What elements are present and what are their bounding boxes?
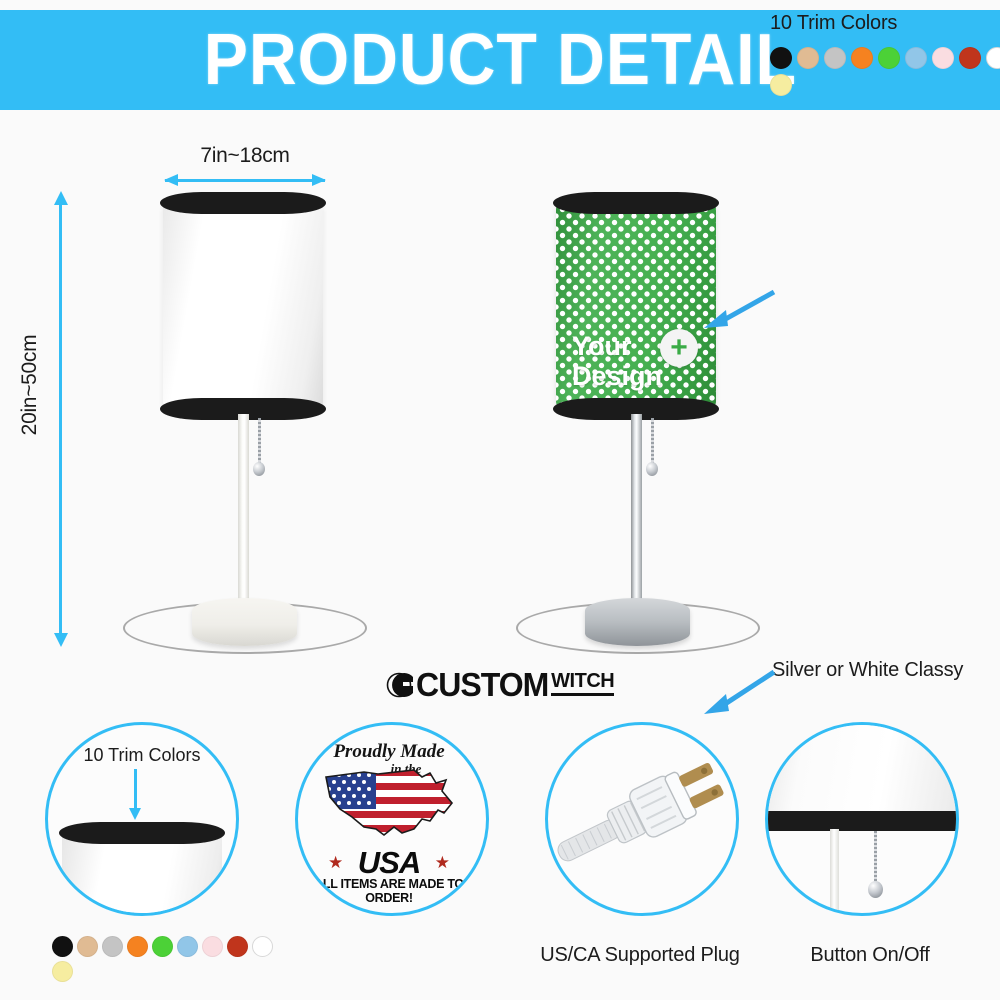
trim-swatch-green[interactable] xyxy=(878,47,900,69)
trim-swatch-gray[interactable] xyxy=(102,936,123,957)
shade-top-trim xyxy=(160,192,326,214)
feature-pull-chain xyxy=(874,831,877,883)
feature-shade-trim xyxy=(59,822,225,844)
width-dimension-arrow xyxy=(165,179,325,182)
feature-button-on-off xyxy=(765,722,959,916)
design-line-2: Design xyxy=(572,361,662,391)
usa-badge-country: USA xyxy=(298,845,480,881)
feature-lamp-pole xyxy=(830,829,839,916)
trim-swatch-red[interactable] xyxy=(959,47,981,69)
feature-pull-chain-ball[interactable] xyxy=(868,881,883,898)
trim-pointer-arrow-icon xyxy=(700,288,778,330)
trim-swatch-pink[interactable] xyxy=(932,47,954,69)
lamp-pole xyxy=(631,414,642,614)
logo-primary-text: CUSTOM xyxy=(416,666,548,704)
height-dimension-label: 20in~50cm xyxy=(18,295,42,475)
logo-secondary-text: WITCH xyxy=(551,671,614,691)
page-title: PRODUCT DETAIL xyxy=(203,24,796,96)
trim-swatch-black[interactable] xyxy=(770,47,792,69)
logo-c-mark-icon xyxy=(386,670,416,700)
trim-swatch-light-blue[interactable] xyxy=(177,936,198,957)
usa-badge: Proudly Made in the xyxy=(298,725,480,907)
pull-chain-ball xyxy=(646,462,658,476)
trim-swatch-light-blue[interactable] xyxy=(905,47,927,69)
pull-chain-ball xyxy=(253,462,265,476)
brand-logo: CUSTOM WITCH xyxy=(0,662,1000,708)
usa-map-flag-icon xyxy=(318,763,460,847)
usa-star-right-icon: ★ xyxy=(435,853,450,873)
trim-color-swatch-row xyxy=(770,47,1000,96)
usa-badge-line1: Proudly Made xyxy=(333,741,444,762)
logo-underline xyxy=(551,693,614,696)
lamp-shade-green: Your Design + xyxy=(556,203,716,408)
trim-swatch-white[interactable] xyxy=(986,47,1000,69)
pull-chain xyxy=(651,418,654,464)
design-line-1: Your xyxy=(572,331,632,361)
trim-swatch-yellow[interactable] xyxy=(770,74,792,96)
trim-swatch-tan[interactable] xyxy=(797,47,819,69)
feature-shade-body xyxy=(62,833,222,916)
feature-shade-trim xyxy=(765,811,959,831)
trim-swatch-orange[interactable] xyxy=(851,47,873,69)
trim-swatch-pink[interactable] xyxy=(202,936,223,957)
height-dimension-arrow xyxy=(59,204,62,634)
logo-secondary-group: WITCH xyxy=(551,671,614,696)
feature-button-caption: Button On/Off xyxy=(760,944,980,967)
pull-chain xyxy=(258,418,261,464)
trim-colors-title: 10 Trim Colors xyxy=(770,12,1000,35)
usa-badge-subtext: ALL ITEMS ARE MADE TO ORDER! xyxy=(298,877,480,905)
trim-colors-panel: 10 Trim Colors xyxy=(770,12,1000,96)
lamp-shade-white xyxy=(163,203,323,408)
width-dimension-label: 7in~18cm xyxy=(160,144,330,168)
feature-made-in-usa: Proudly Made in the xyxy=(295,722,489,916)
feature-power-plug xyxy=(545,722,739,916)
trim-swatch-yellow[interactable] xyxy=(52,961,73,982)
lamp-base-silver xyxy=(585,598,690,646)
lamp-base-white xyxy=(192,598,297,646)
feature-trim-arrow-icon xyxy=(134,769,137,809)
shade-top-trim xyxy=(553,192,719,214)
trim-swatch-white[interactable] xyxy=(252,936,273,957)
plus-icon: + xyxy=(660,329,698,367)
trim-swatch-black[interactable] xyxy=(52,936,73,957)
feature-trim-label: 10 Trim Colors xyxy=(48,745,236,766)
trim-swatch-gray[interactable] xyxy=(824,47,846,69)
bottom-trim-color-swatch-row xyxy=(52,936,292,982)
feature-trim-colors: 10 Trim Colors xyxy=(45,722,239,916)
lamp-pole xyxy=(238,414,249,614)
feature-plug-caption: US/CA Supported Plug xyxy=(500,944,780,967)
us-plug-icon xyxy=(548,725,736,913)
main-stage: 7in~18cm 20in~50cm Your Design + xyxy=(0,118,1000,668)
trim-swatch-orange[interactable] xyxy=(127,936,148,957)
trim-swatch-red[interactable] xyxy=(227,936,248,957)
feature-shade-body xyxy=(765,722,959,815)
trim-swatch-green[interactable] xyxy=(152,936,173,957)
product-detail-infographic: PRODUCT DETAIL 7in~18cm 20in~50cm Your xyxy=(0,0,1000,1000)
trim-swatch-tan[interactable] xyxy=(77,936,98,957)
